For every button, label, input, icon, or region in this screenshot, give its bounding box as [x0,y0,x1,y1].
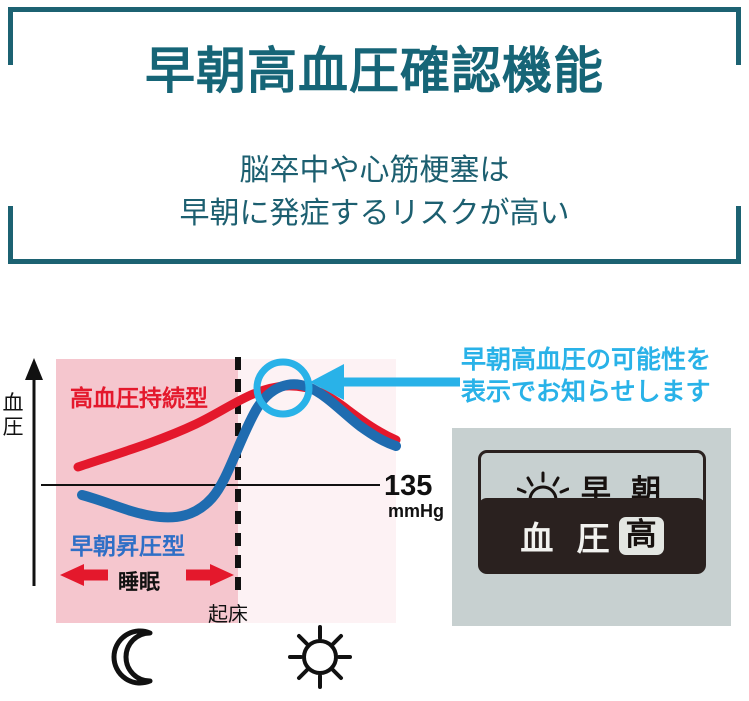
wakeup-label: 起床 [208,598,248,627]
page-subtitle: 脳卒中や心筋梗塞は 早朝に発症するリスクが高い [0,150,749,235]
series-label-morning-surge: 早朝昇圧型 [70,527,185,561]
callout-text: 早朝高血圧の可能性を 表示でお知らせします [461,344,711,408]
sun-icon [290,627,350,687]
device-row-blood-pressure: 血 圧 高 [478,498,706,574]
frame-edge-bottom [330,259,419,264]
threshold-unit-label: mmHg [388,501,444,522]
device-screen: 早 朝 血 圧 高 [478,450,706,602]
sleep-span-label: 睡眠 [118,566,160,596]
frame-edge-top [330,7,419,12]
device-label-blood-pressure: 血 圧 [520,512,616,560]
blood-pressure-chart: 血圧 高血圧持続型 早朝昇圧型 睡眠 起床 135 mmHg [0,330,460,701]
threshold-value-label: 135 [384,472,432,501]
infographic-page: 早朝高血圧確認機能 脳卒中や心筋梗塞は 早朝に発症するリスクが高い [0,0,749,701]
moon-icon [114,631,150,683]
y-axis-label: 血圧 [2,392,24,439]
page-title: 早朝高血圧確認機能 [0,44,749,99]
series-label-sustained-hypertension: 高血圧持続型 [70,379,208,413]
device-display-panel: 早 朝 血 圧 高 [452,428,731,626]
y-axis-arrowhead [25,358,43,380]
device-badge-high: 高 [619,517,664,556]
